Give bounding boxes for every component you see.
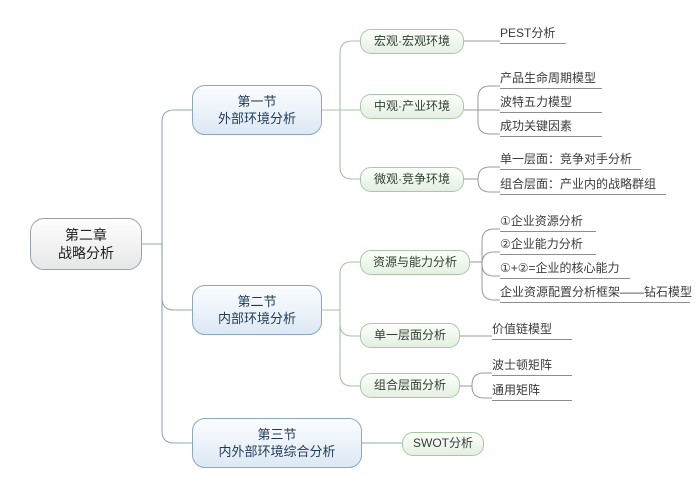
connector-meso-plc bbox=[478, 86, 500, 110]
connector-meso-ksf bbox=[478, 110, 500, 134]
leaf-node-portfolio-level-strategic-group[interactable]: 组合层面：产业内的战略群组 bbox=[500, 177, 666, 195]
topic-node-meso[interactable]: 中观·产业环境 bbox=[360, 94, 464, 119]
section-1-connectors bbox=[322, 41, 360, 179]
resource-leaf-connectors bbox=[470, 229, 500, 300]
leaf-node-ge-matrix[interactable]: 通用矩阵 bbox=[492, 383, 572, 401]
section-2-connectors bbox=[322, 262, 360, 386]
leaf-node-porter-five-forces[interactable]: 波特五力模型 bbox=[500, 95, 602, 113]
topic-node-resource-capability[interactable]: 资源与能力分析 bbox=[360, 250, 470, 275]
connector-root-to-section-2 bbox=[162, 244, 192, 310]
connector-s1-macro bbox=[340, 41, 360, 110]
connector-res-3 bbox=[482, 262, 500, 276]
branch-node-section-2[interactable]: 第二节 内部环境分析 bbox=[192, 285, 322, 335]
leaf-node-product-life-cycle[interactable]: 产品生命周期模型 bbox=[500, 71, 602, 89]
leaf-node-diamond-model[interactable]: 企业资源配置分析框架——钻石模型 bbox=[500, 285, 690, 303]
connector-s2-resource bbox=[340, 262, 360, 310]
leaf-node-pest[interactable]: PEST分析 bbox=[500, 26, 566, 44]
topic-node-macro[interactable]: 宏观·宏观环境 bbox=[360, 29, 464, 54]
root-node[interactable]: 第二章 战略分析 bbox=[30, 218, 142, 270]
connector-root-to-section-1 bbox=[162, 110, 192, 244]
leaf-node-enterprise-capability-analysis[interactable]: ②企业能力分析 bbox=[500, 237, 596, 255]
topic-node-portfolio-level-analysis[interactable]: 组合层面分析 bbox=[360, 373, 460, 398]
leaf-node-bcg-matrix[interactable]: 波士顿矩阵 bbox=[492, 358, 572, 376]
connector-res-4 bbox=[482, 262, 500, 300]
leaf-node-value-chain-model[interactable]: 价值链模型 bbox=[492, 322, 572, 340]
leaf-node-single-level-competitor[interactable]: 单一层面：竞争对手分析 bbox=[500, 152, 641, 170]
connector-root-to-section-3 bbox=[162, 244, 192, 443]
root-connectors bbox=[142, 110, 192, 443]
connector-s1-micro bbox=[340, 110, 360, 179]
connector-portfolio-bcg bbox=[472, 373, 492, 386]
topic-node-single-level-analysis[interactable]: 单一层面分析 bbox=[360, 323, 460, 348]
branch-node-section-3[interactable]: 第三节 内外部环境综合分析 bbox=[192, 418, 362, 468]
connector-s2-portfolio-level bbox=[340, 310, 360, 386]
mindmap-canvas: 第二章 战略分析 第一节 外部环境分析 宏观·宏观环境 PEST分析 中观·产业… bbox=[0, 0, 700, 496]
connector-res-1 bbox=[482, 229, 500, 262]
branch-node-section-1[interactable]: 第一节 外部环境分析 bbox=[192, 85, 322, 135]
leaf-node-key-success-factors[interactable]: 成功关键因素 bbox=[500, 119, 602, 137]
connector-micro-single bbox=[478, 167, 500, 179]
portfolio-level-leaf-connectors bbox=[460, 373, 492, 398]
connector-res-2 bbox=[482, 252, 500, 264]
connector-portfolio-ge bbox=[472, 386, 492, 398]
leaf-node-core-capability[interactable]: ①+②=企业的核心能力 bbox=[500, 261, 630, 279]
micro-leaf-connectors bbox=[464, 167, 500, 192]
meso-leaf-connectors bbox=[464, 86, 500, 134]
connector-s2-single-level bbox=[340, 310, 360, 336]
topic-node-micro[interactable]: 微观·竞争环境 bbox=[360, 167, 464, 192]
connector-micro-portfolio bbox=[478, 179, 500, 192]
leaf-node-enterprise-resource-analysis[interactable]: ①企业资源分析 bbox=[500, 214, 596, 232]
topic-node-swot[interactable]: SWOT分析 bbox=[402, 432, 484, 456]
